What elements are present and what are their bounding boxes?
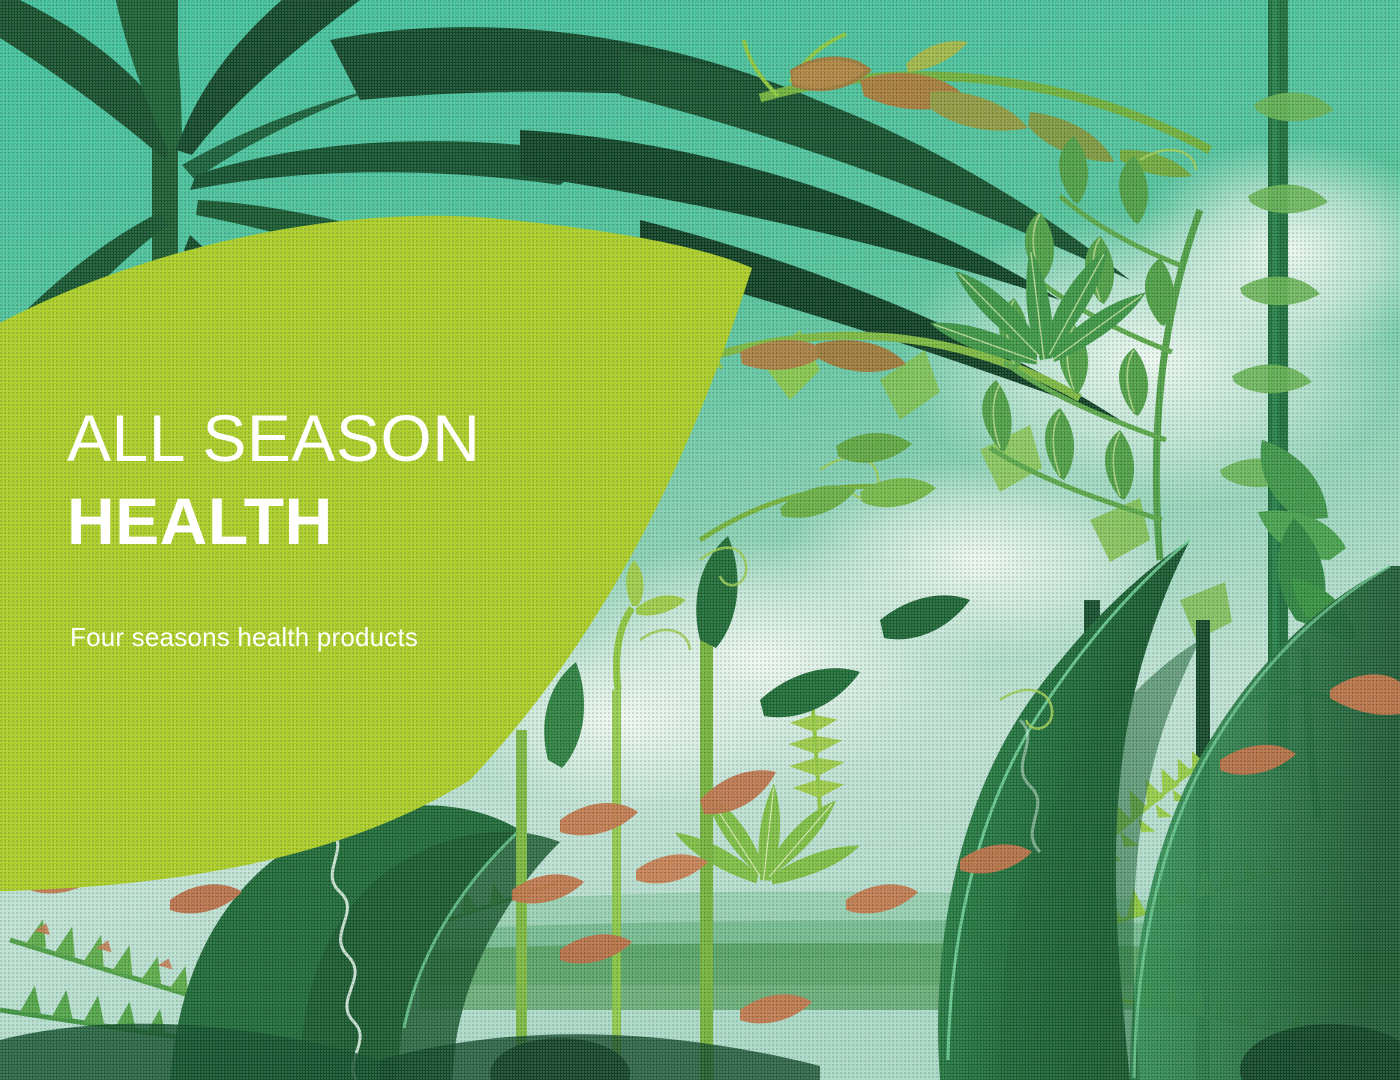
subtitle: Four seasons health products [70,622,687,653]
headline-block: ALL SEASON HEALTH Four seasons health pr… [67,405,687,653]
poster-canvas: ALL SEASON HEALTH Four seasons health pr… [0,0,1400,1080]
title-line-1: ALL SEASON [67,405,687,471]
title-line-2: HEALTH [67,488,687,554]
